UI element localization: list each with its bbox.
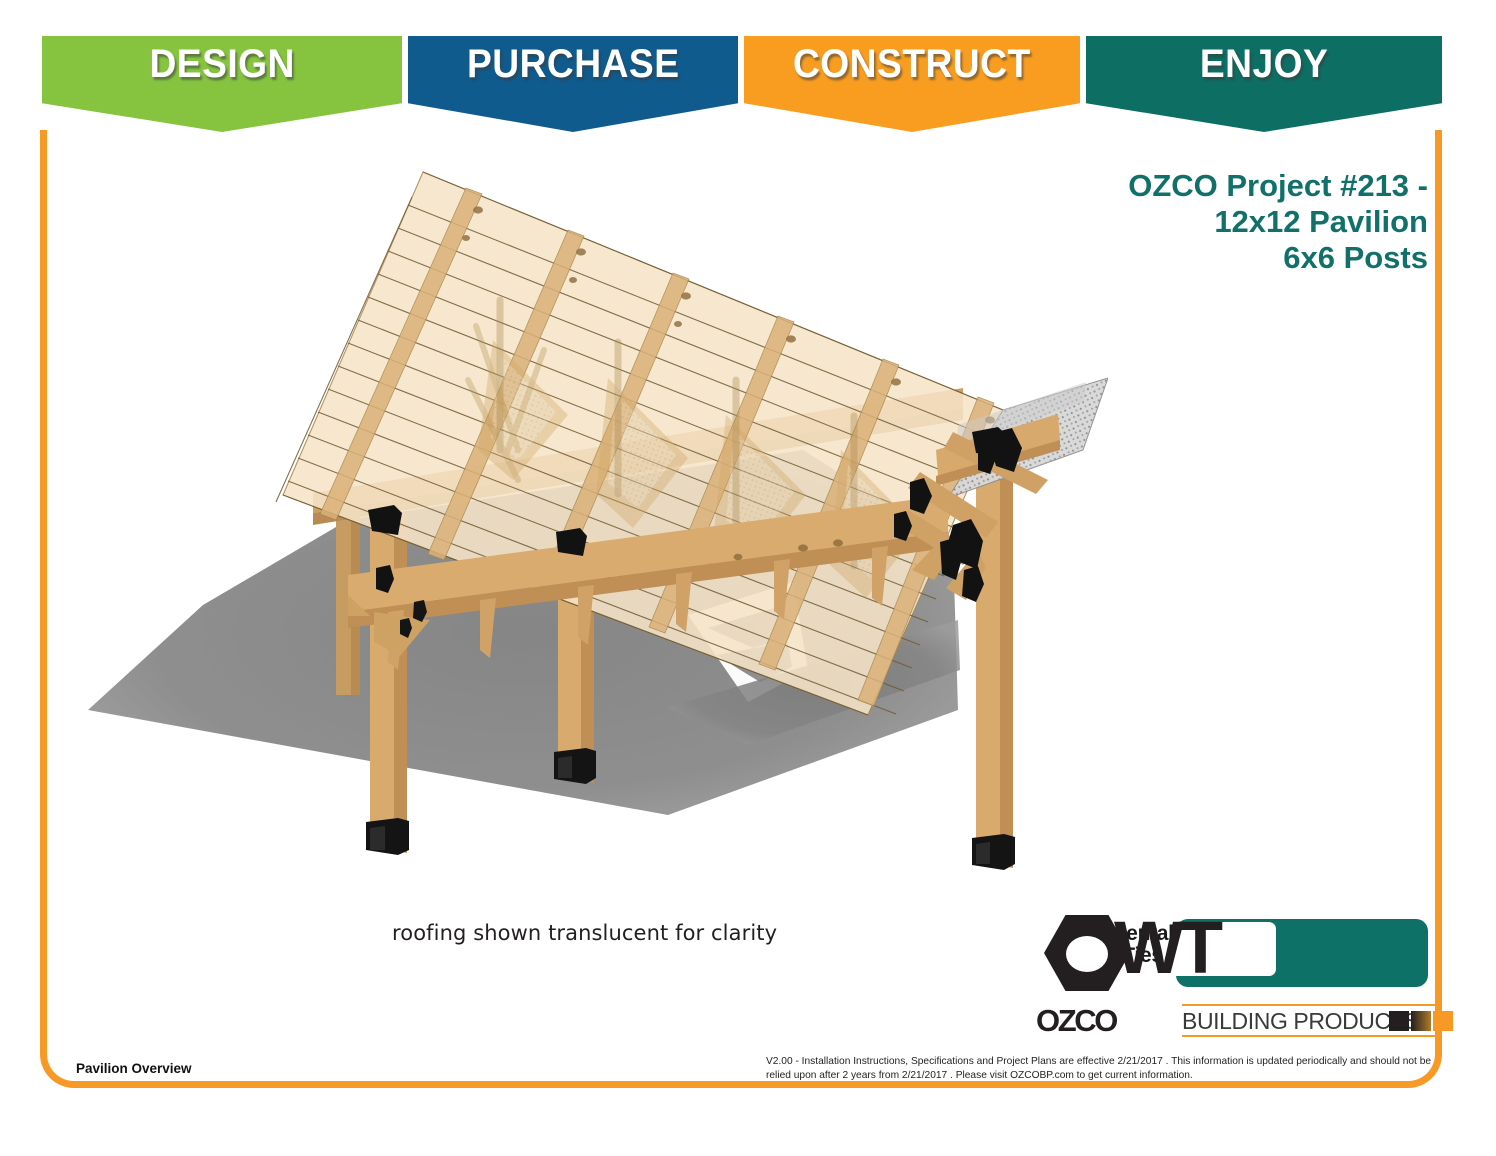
banner-step-enjoy[interactable]: ENJOY: [1086, 36, 1442, 132]
page-border-stub-left: [40, 130, 47, 146]
banner-step-enjoy-label: ENJOY: [1200, 44, 1328, 84]
ozco-wordmark: OZCO: [1036, 1005, 1116, 1036]
owt-logo-wt-letters: WT: [1114, 911, 1217, 985]
banner-step-construct[interactable]: CONSTRUCT: [744, 36, 1080, 132]
ozco-swatch-2: [1411, 1011, 1431, 1031]
ozco-tagline: BUILDING PRODUCTS: [1182, 1010, 1419, 1033]
pavilion-3d-drawing: [48, 150, 1108, 920]
ozco-building-products-logo: OZCO BUILDING PRODUCTS: [1036, 1004, 1438, 1038]
banner-step-design[interactable]: DESIGN: [42, 36, 402, 132]
owt-logo: Ornamental Wood Ties WT: [1036, 915, 1432, 991]
post-base-hardware-front-left: [366, 818, 409, 855]
hexagon-nut-hole: [1066, 936, 1108, 972]
banner-step-construct-label: CONSTRUCT: [793, 44, 1031, 84]
post-base-hardware-right: [972, 834, 1015, 870]
sheet-label: Pavilion Overview: [76, 1061, 192, 1076]
post-right: [972, 431, 1015, 870]
ozco-rule-top: [1182, 1004, 1438, 1006]
post-base-hardware-middle: [554, 748, 596, 784]
ozco-swatch-1: [1389, 1011, 1409, 1031]
legal-note: V2.00 - Installation Instructions, Speci…: [766, 1055, 1442, 1083]
project-plan-page: DESIGN PURCHASE CONSTRUCT ENJOY OZCO Pro…: [0, 0, 1496, 1156]
banner-step-purchase-label: PURCHASE: [467, 44, 679, 84]
page-border-stub-right: [1435, 130, 1442, 146]
post-front-left: [366, 511, 409, 855]
banner-step-purchase[interactable]: PURCHASE: [408, 36, 738, 132]
banner-step-design-label: DESIGN: [149, 44, 294, 84]
drawing-caption: roofing shown translucent for clarity: [392, 921, 777, 945]
ozco-swatch-3: [1433, 1011, 1453, 1031]
process-banner: DESIGN PURCHASE CONSTRUCT ENJOY: [0, 0, 1496, 132]
ozco-rule-bottom: [1182, 1035, 1438, 1037]
